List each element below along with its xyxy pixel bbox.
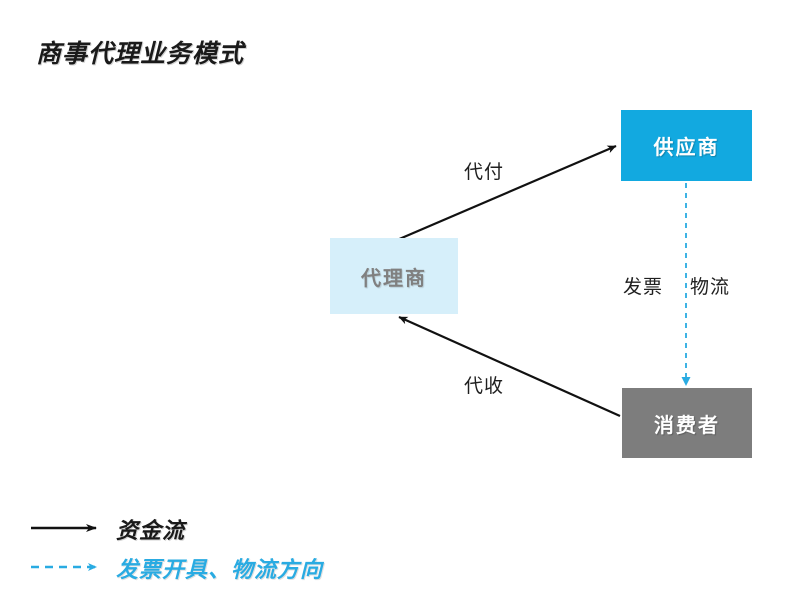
page-title: 商事代理业务模式: [36, 34, 244, 70]
node-agent[interactable]: 代理商: [330, 238, 458, 314]
edge-label-daishou: 代收: [464, 371, 504, 398]
legend-label-invoice-logistics: 发票开具、物流方向: [116, 552, 323, 584]
legend-label-capital-flow: 资金流: [116, 513, 185, 545]
edge-label-fapiao: 发票: [623, 272, 663, 299]
edge-consumer-to-agent: [399, 317, 620, 416]
edge-label-wuliu: 物流: [690, 272, 730, 299]
legend-solid-arrow-icon: [28, 519, 98, 539]
edge-label-daifu: 代付: [464, 157, 504, 184]
legend-item-invoice-logistics: 发票开具、物流方向: [28, 551, 323, 585]
edge-agent-to-supplier: [397, 146, 616, 240]
node-consumer-label: 消费者: [654, 409, 720, 438]
node-agent-label: 代理商: [361, 262, 427, 291]
node-consumer[interactable]: 消费者: [622, 388, 752, 458]
diagram-canvas: 商事代理业务模式 供应商 代理商: [0, 0, 785, 608]
legend-item-capital-flow: 资金流: [28, 512, 185, 546]
node-supplier[interactable]: 供应商: [621, 110, 752, 181]
node-supplier-label: 供应商: [654, 131, 720, 160]
legend-dashed-arrow-icon: [28, 558, 98, 578]
